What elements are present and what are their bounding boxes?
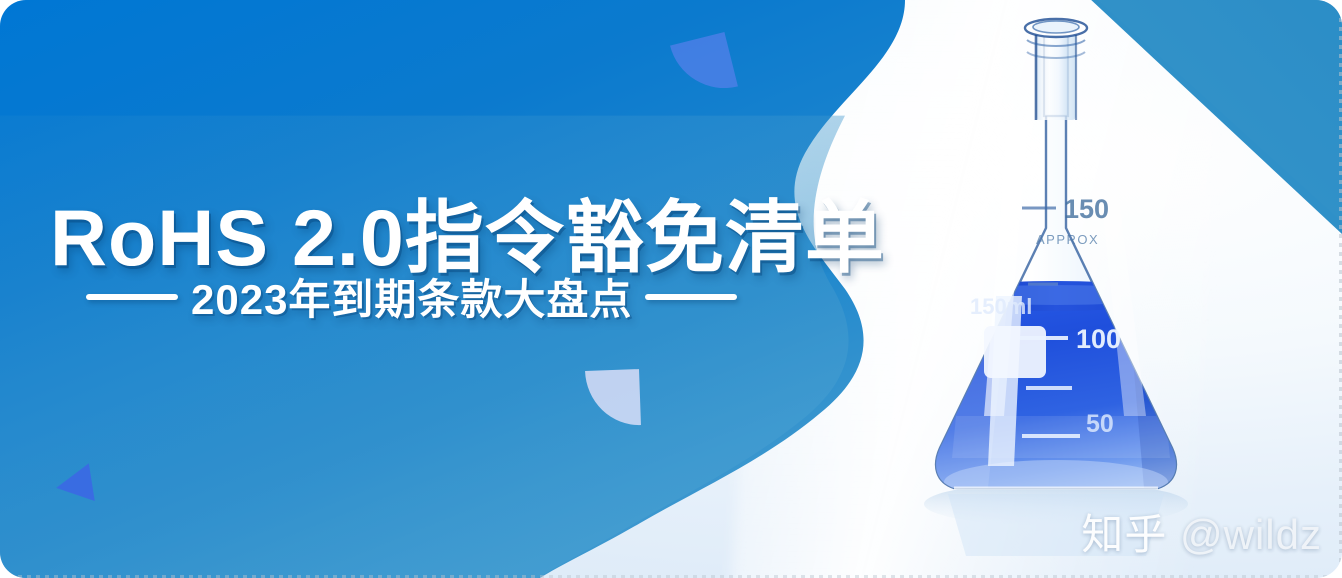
svg-text:50: 50 bbox=[1086, 410, 1114, 438]
svg-text:APPROX: APPROX bbox=[1036, 232, 1099, 247]
watermark-handle: @wildz bbox=[1180, 511, 1322, 558]
svg-text:150: 150 bbox=[1064, 194, 1109, 224]
rule-right-decor bbox=[645, 294, 737, 300]
rule-left-decor bbox=[86, 294, 178, 300]
erlenmeyer-flask-image: 150 APPROX 100 50 150ml bbox=[846, 0, 1266, 578]
triangle-decor-bottom-left bbox=[53, 463, 95, 506]
zhihu-watermark: 知乎 @wildz bbox=[1081, 514, 1322, 556]
subtitle-row: 2023年到期条款大盘点 bbox=[86, 266, 737, 327]
page-subtitle: 2023年到期条款大盘点 bbox=[191, 266, 632, 327]
watermark-platform: 知乎 bbox=[1081, 511, 1167, 558]
svg-text:100: 100 bbox=[1076, 324, 1121, 354]
svg-text:150ml: 150ml bbox=[970, 294, 1032, 319]
banner-card: 150 APPROX 100 50 150ml bbox=[0, 0, 1342, 578]
rohs-banner: 150 APPROX 100 50 150ml bbox=[0, 0, 1342, 578]
